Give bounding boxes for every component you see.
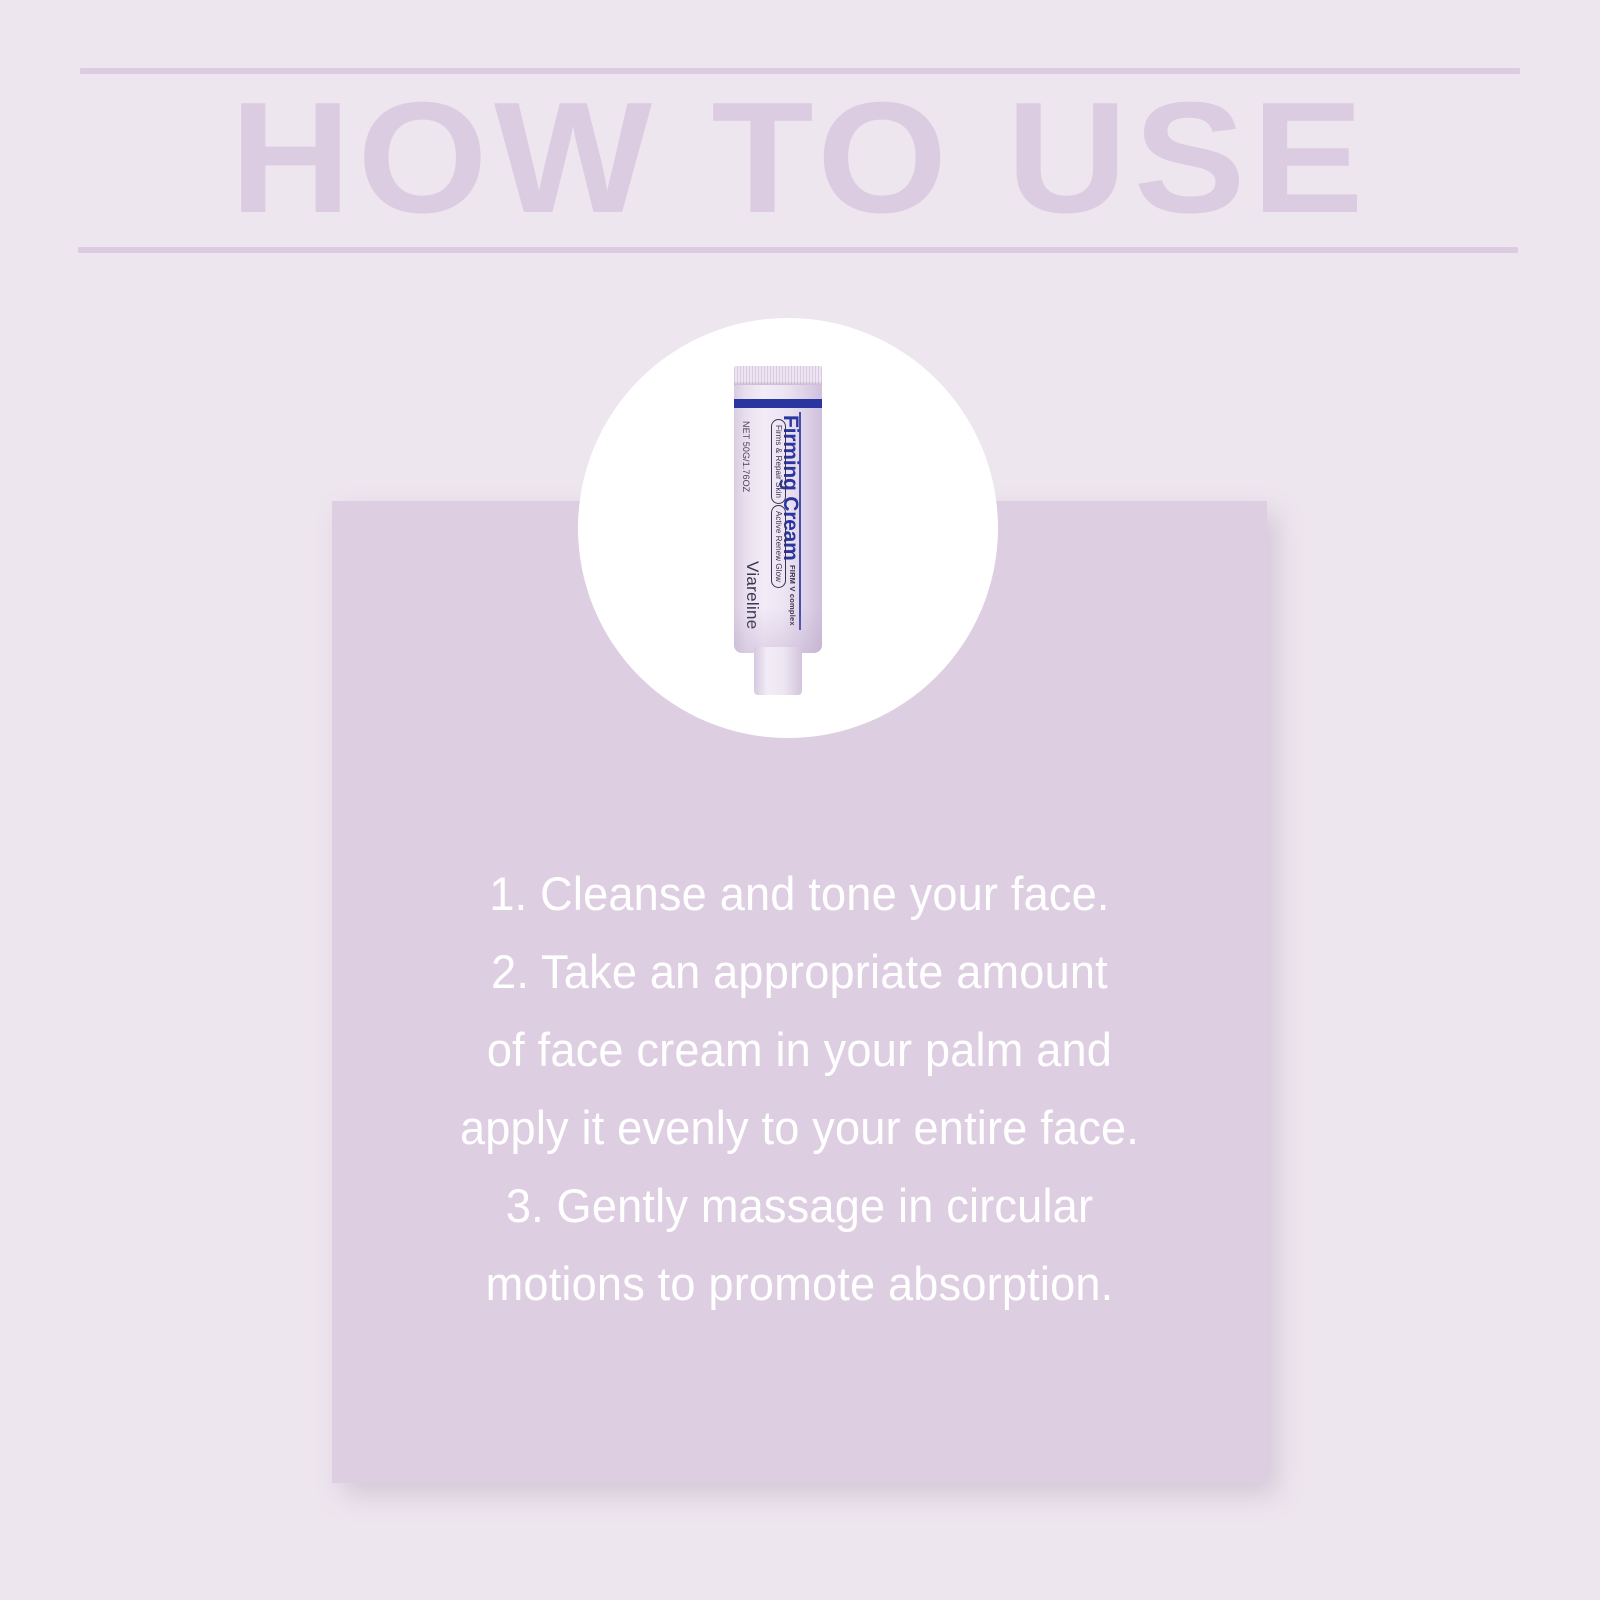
net-weight-label: NET 50G/1.76OZ [741,421,751,492]
instruction-line: apply it evenly to your entire face. [351,1089,1249,1167]
product-claim-badge: Firms & Repair Skin [771,419,786,504]
tube-body: Firming Cream NET 50G/1.76OZ Firms & Rep… [734,385,822,653]
instruction-line: motions to promote absorption. [351,1245,1249,1323]
instruction-line: 2. Take an appropriate amount [351,933,1249,1011]
product-image: Firming Cream NET 50G/1.76OZ Firms & Rep… [578,318,998,738]
brand-label: Viareline [742,561,762,630]
tube-cap [754,647,802,695]
instruction-line: 3. Gently massage in circular [351,1167,1249,1245]
complex-label: FIRM V complex [788,565,797,626]
title-rule-bottom [78,247,1518,253]
infographic-canvas: HOW TO USE 1. Cleanse and tone your face… [0,0,1600,1600]
page-title: HOW TO USE [0,72,1600,244]
product-claim-badge: Active Renew Glow [771,505,786,588]
cream-tube: Firming Cream NET 50G/1.76OZ Firms & Rep… [730,366,826,698]
instruction-steps: 1. Cleanse and tone your face. 2. Take a… [351,855,1249,1323]
instruction-line: 1. Cleanse and tone your face. [351,855,1249,933]
instruction-line: of face cream in your palm and [351,1011,1249,1089]
tube-accent-band [734,399,822,408]
tube-crimp-seal [734,366,822,386]
